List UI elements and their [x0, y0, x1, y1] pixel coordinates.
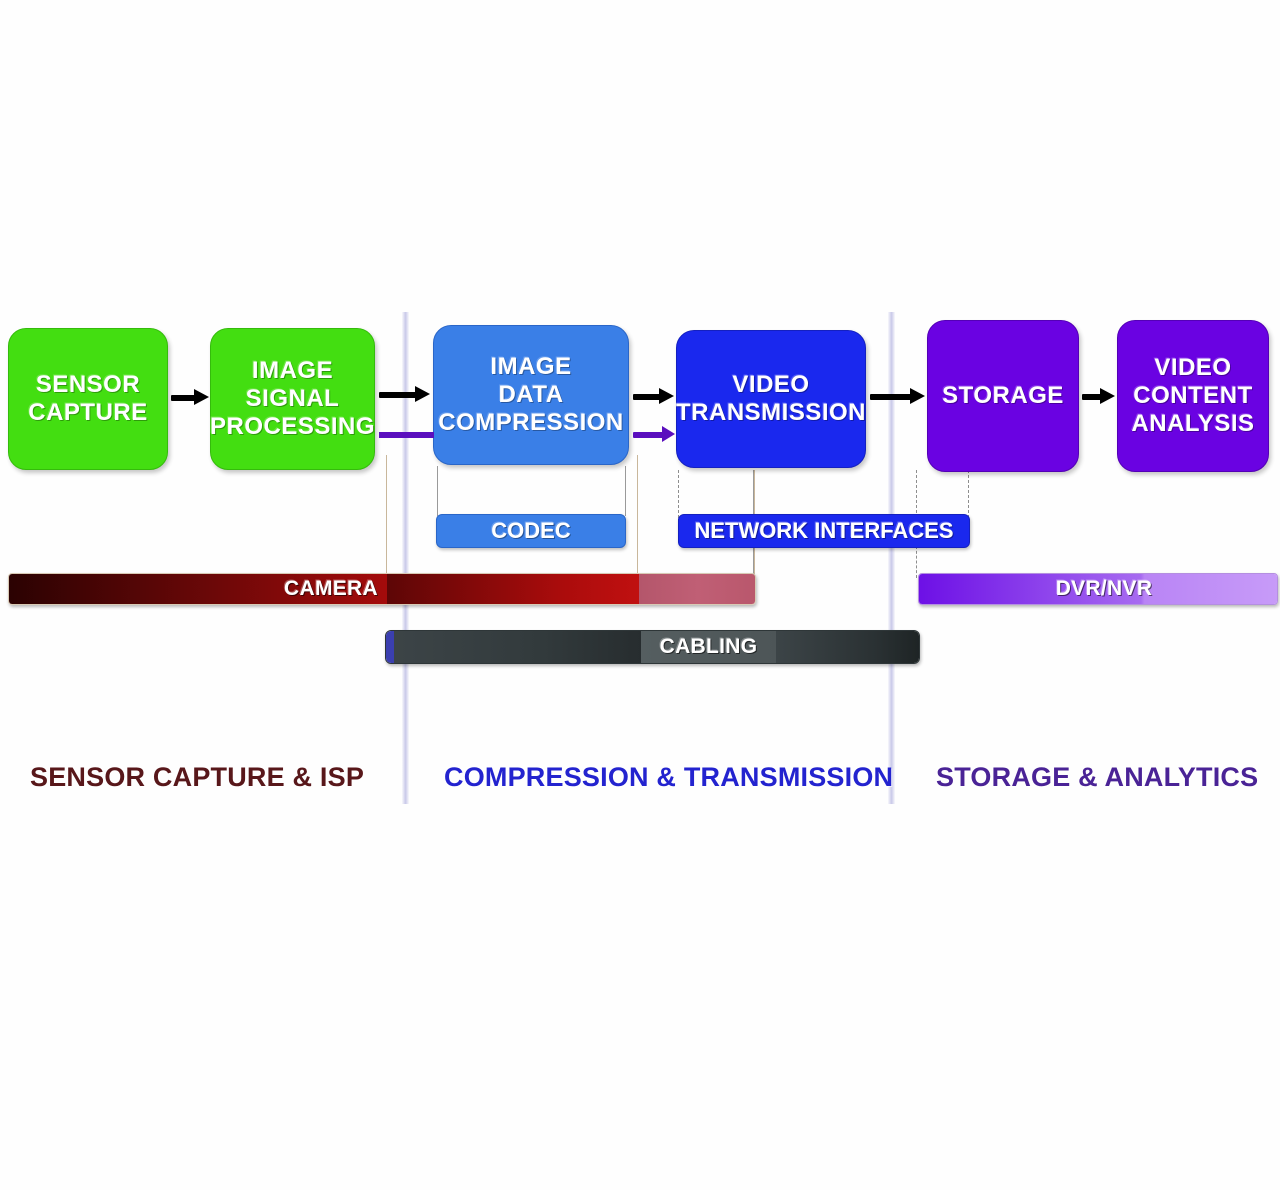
stage-box-video-content-analysis[interactable]: VIDEOCONTENTANALYSIS: [1117, 320, 1269, 472]
span-bar-camera[interactable]: CAMERA: [8, 573, 756, 605]
arrow-sensor-to-isp: [171, 393, 209, 402]
camera-bar-segment-3: [639, 574, 756, 604]
sub-label-codec-text: CODEC: [491, 518, 570, 544]
section-caption-compression-transmission: COMPRESSION & TRANSMISSION: [444, 762, 893, 793]
section-divider-right: [888, 312, 895, 804]
stage-label-storage: STORAGE: [936, 382, 1070, 410]
stage-label-video-content-analysis: VIDEOCONTENTANALYSIS: [1125, 354, 1260, 439]
stage-label-video-transmission: VIDEOTRANSMISSION: [670, 371, 872, 428]
arrow-transmission-to-storage: [870, 392, 926, 401]
stage-label-image-data-compression: IMAGEDATACOMPRESSION: [432, 353, 630, 438]
sub-label-network-interfaces[interactable]: NETWORK INTERFACES: [678, 514, 970, 548]
stage-label-image-signal-processing: IMAGESIGNALPROCESSING: [204, 357, 381, 442]
arrow-storage-to-analysis: [1082, 392, 1116, 401]
stage-box-image-data-compression[interactable]: IMAGEDATACOMPRESSION: [433, 325, 629, 465]
leader-dvr-left: [916, 546, 918, 578]
sub-label-codec[interactable]: CODEC: [436, 514, 626, 548]
stage-box-video-transmission[interactable]: VIDEOTRANSMISSION: [676, 330, 866, 468]
leader-camera-left: [386, 455, 387, 577]
leader-camera-mid: [637, 455, 638, 577]
span-bar-dvr-nvr-label: DVR/NVR: [1039, 574, 1169, 604]
diagram-canvas: SENSORCAPTURE IMAGESIGNALPROCESSING IMAG…: [0, 0, 1280, 1190]
sub-label-network-interfaces-text: NETWORK INTERFACES: [694, 518, 953, 544]
stage-label-sensor-capture: SENSORCAPTURE: [22, 371, 154, 428]
span-bar-cabling[interactable]: CABLING: [385, 630, 920, 664]
span-bar-cabling-label: CABLING: [641, 631, 776, 663]
stage-box-sensor-capture[interactable]: SENSORCAPTURE: [8, 328, 168, 470]
section-caption-sensor-capture-isp: SENSOR CAPTURE & ISP: [30, 762, 364, 793]
cabling-bar-segment-4: [776, 631, 919, 663]
leader-netif-storage-left: [916, 470, 918, 518]
violet-link-isp-to-compression: [379, 432, 434, 438]
leader-netif-storage-right: [968, 470, 970, 518]
stage-box-storage[interactable]: STORAGE: [927, 320, 1079, 472]
span-bar-dvr-nvr[interactable]: DVR/NVR: [918, 573, 1278, 605]
leader-codec-right: [625, 466, 626, 516]
section-caption-storage-analytics: STORAGE & ANALYTICS: [936, 762, 1258, 793]
arrow-isp-to-compression: [379, 390, 431, 399]
violet-arrow-compression-to-transmission: [633, 430, 676, 439]
camera-bar-segment-2: [387, 574, 639, 604]
span-bar-camera-label: CAMERA: [267, 574, 395, 604]
stage-box-image-signal-processing[interactable]: IMAGESIGNALPROCESSING: [210, 328, 375, 470]
cabling-bar-segment-1: [386, 631, 394, 663]
section-divider-left: [402, 312, 409, 804]
leader-netif-left: [678, 470, 680, 518]
cabling-bar-segment-2: [394, 631, 641, 663]
arrow-compression-to-transmission: [633, 392, 675, 401]
leader-codec-left: [437, 466, 438, 516]
